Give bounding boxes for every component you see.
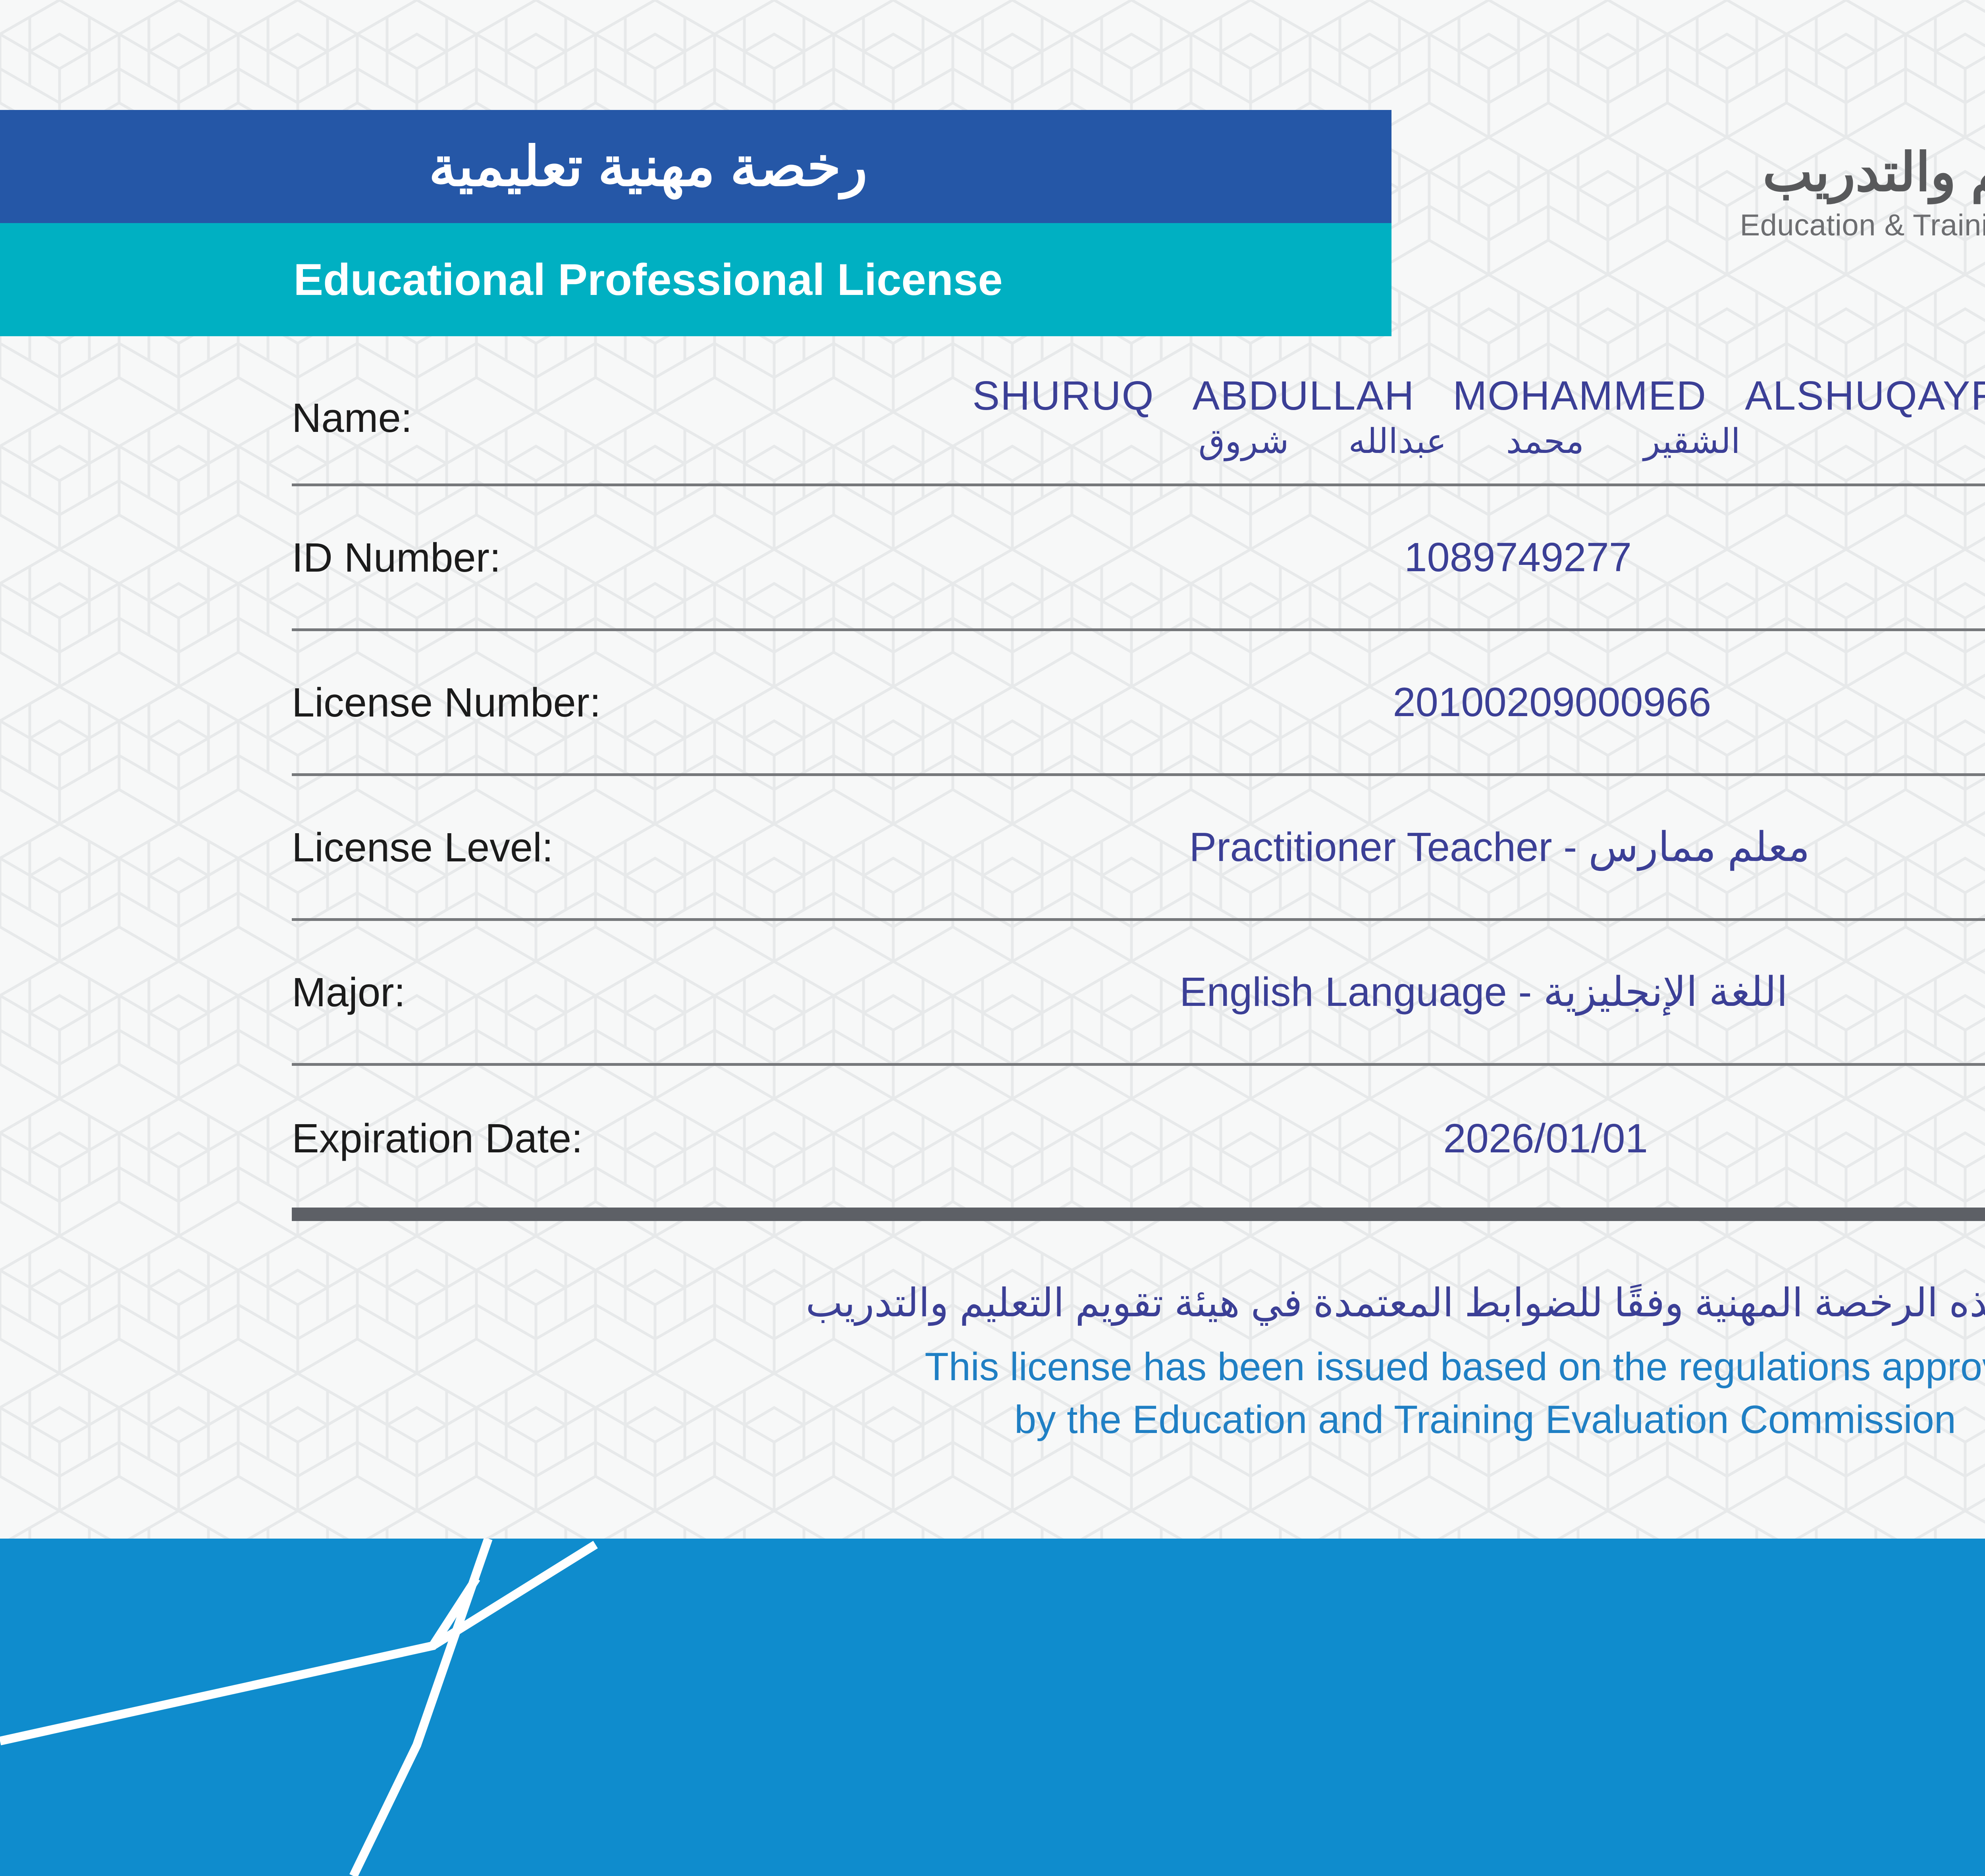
value-expiration-date-wrap: 2026/01/01 [583,1115,1985,1162]
disclaimer-en-line1: This license has been issued based on th… [0,1340,1985,1393]
label-license-number-en: License Number: [292,682,601,723]
value-license-number: 20100209000966 [1393,679,1711,725]
footer-bar: للتحقق من صحة الرخصة من خلال موقعنا To v… [0,1539,1985,1876]
label-expiration-date-en: Expiration Date: [292,1118,583,1159]
value-id-number-wrap: 1089749277 [501,534,1985,581]
value-license-level: Practitioner Teacher - معلم ممارس [1189,824,1810,870]
name-word-fourth: ALSHUQAYR [1745,372,1985,419]
value-expiration-date: 2026/01/01 [1443,1115,1648,1161]
organization-name-ar: هيئة تقويم التعليم والتدريب [1477,143,1985,202]
disclaimer-block: تم إصدار هذه الرخصة المهنية وفقًا للضواب… [0,1278,1985,1446]
name-word-third: MOHAMMED [1453,372,1707,419]
disclaimer-en-line2: by the Education and Training Evaluation… [0,1393,1985,1446]
banner-title-ar: رخصة مهنية تعليمية [429,135,867,198]
name-word-ar-fourth: شروق [1199,422,1289,461]
name-word-ar-first: الشقير [1644,422,1740,461]
label-id-number-en: ID Number: [292,537,501,578]
organization-name-en: Education & Training Evaluation Commissi… [1477,208,1985,243]
name-word-first: SHURUQ [972,372,1154,419]
value-name-ar: الشقير محمد عبدالله شروق [368,422,1985,461]
label-license-level-en: License Level: [292,827,553,868]
name-word-ar-second: محمد [1506,422,1584,461]
value-name: SHURUQ ABDULLAH MOHAMMED ALSHUQAYR - الش… [412,372,1985,461]
table-row-id-number: ID Number: 1089749277 رقم الهوية: [292,486,1985,631]
disclaimer-text-ar: تم إصدار هذه الرخصة المهنية وفقًا للضواب… [0,1278,1985,1327]
value-major: English Language - اللغة الإنجليزية [1179,969,1788,1015]
banner-title-en: Educational Professional License [293,254,1002,305]
banner-arabic-band: رخصة مهنية تعليمية [0,110,1391,223]
table-row-expiration-date: Expiration Date: 2026/01/01 تاريخ الانته… [292,1066,1985,1211]
banner-english-band: Educational Professional License [0,223,1391,336]
license-details-table: Name: SHURUQ ABDULLAH MOHAMMED ALSHUQAYR… [292,349,1985,1211]
name-word-second: ABDULLAH [1193,372,1415,419]
value-name-en: SHURUQ ABDULLAH MOHAMMED ALSHUQAYR - [412,372,1985,419]
value-id-number: 1089749277 [1404,534,1632,580]
table-row-license-number: License Number: 20100209000966 رقم الرخص… [292,631,1985,776]
table-row-major: Major: English Language - اللغة الإنجليز… [292,921,1985,1066]
table-row-license-level: License Level: Practitioner Teacher - مع… [292,776,1985,921]
value-license-level-wrap: Practitioner Teacher - معلم ممارس [553,823,1985,871]
disclaimer-text-en: This license has been issued based on th… [0,1340,1985,1446]
value-license-number-wrap: 20100209000966 [601,679,1985,726]
table-row-name: Name: SHURUQ ABDULLAH MOHAMMED ALSHUQAYR… [292,349,1985,486]
header-banner: رخصة مهنية تعليمية Educational Professio… [0,110,1391,336]
name-word-ar-third: عبدالله [1349,422,1447,461]
organization-block: هيئة تقويم التعليم والتدريب Education & … [1477,143,1985,310]
footer-decorative-lines [0,1539,1985,1876]
label-major-en: Major: [292,972,405,1013]
table-bottom-divider [292,1208,1985,1221]
value-major-wrap: English Language - اللغة الإنجليزية [405,968,1985,1016]
